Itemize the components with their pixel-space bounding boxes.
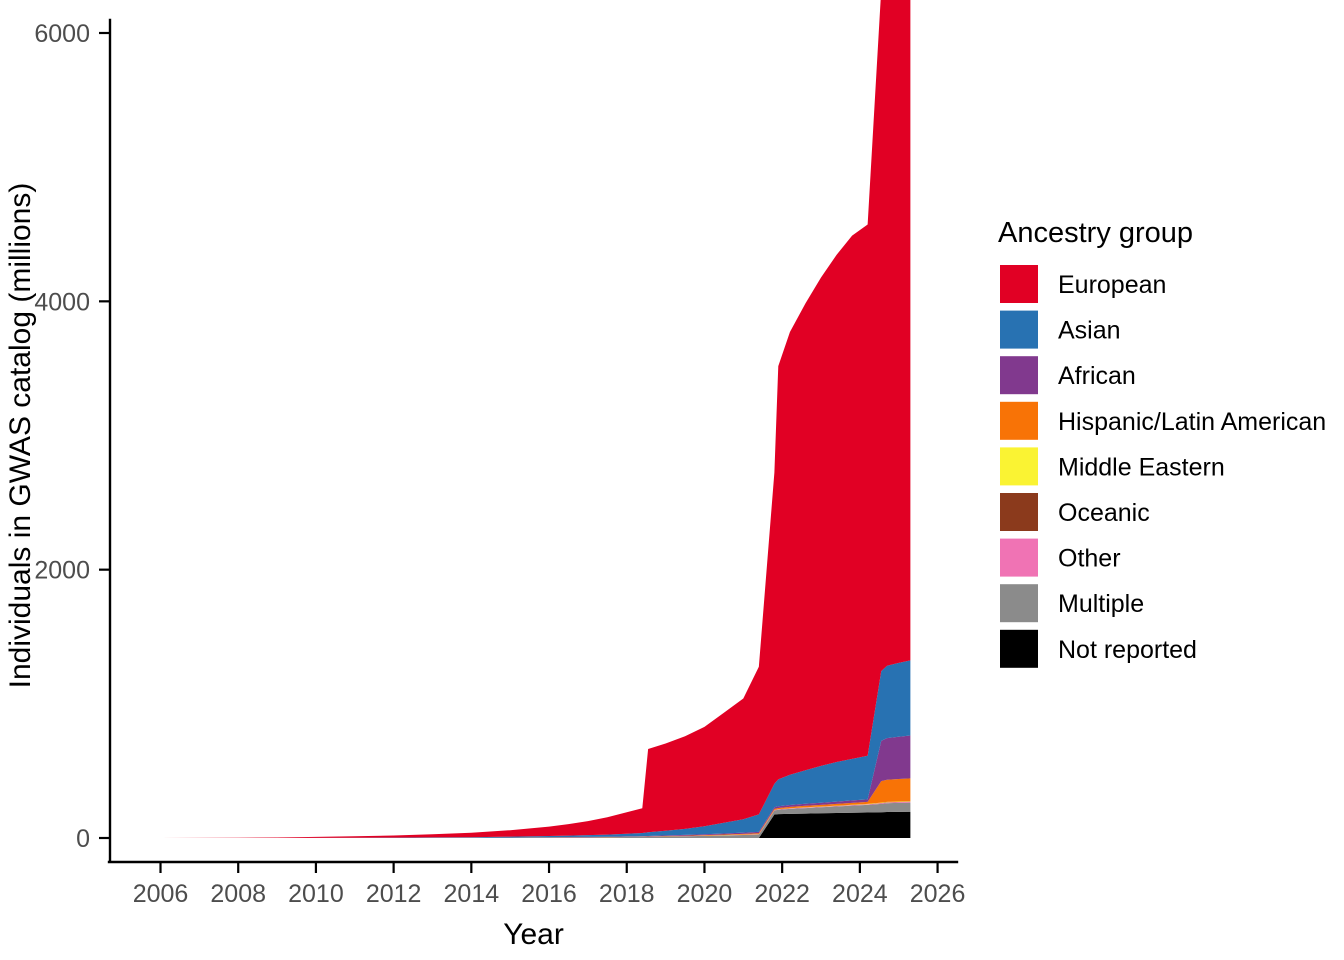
legend-label-other[interactable]: Other <box>1058 545 1121 573</box>
legend-label-middle-eastern[interactable]: Middle Eastern <box>1058 453 1225 481</box>
legend-swatch-african[interactable] <box>1000 356 1038 394</box>
x-tick-label: 2024 <box>832 880 888 908</box>
legend-swatch-multiple[interactable] <box>1000 584 1038 622</box>
legend-swatch-oceanic[interactable] <box>1000 493 1038 531</box>
legend-label-multiple[interactable]: Multiple <box>1058 590 1144 618</box>
legend-swatch-other[interactable] <box>1000 539 1038 577</box>
legend-title: Ancestry group <box>998 217 1193 249</box>
legend-label-african[interactable]: African <box>1058 362 1136 390</box>
x-tick-label: 2018 <box>599 880 655 908</box>
y-axis: 0200040006000 <box>34 20 110 860</box>
x-axis: 2006200820102012201420162018202020222024… <box>109 862 965 908</box>
legend-label-asian[interactable]: Asian <box>1058 317 1121 345</box>
y-tick-label: 2000 <box>34 557 90 585</box>
legend-swatch-middle-eastern[interactable] <box>1000 447 1038 485</box>
x-tick-label: 2022 <box>754 880 810 908</box>
x-tick-label: 2020 <box>677 880 733 908</box>
legend-swatch-european[interactable] <box>1000 265 1038 303</box>
x-tick-label: 2012 <box>366 880 422 908</box>
y-tick-label: 4000 <box>34 288 90 316</box>
x-tick-label: 2016 <box>521 880 577 908</box>
legend-label-not-reported[interactable]: Not reported <box>1058 636 1197 664</box>
y-tick-label: 0 <box>76 825 90 853</box>
x-tick-label: 2008 <box>210 880 266 908</box>
legend-label-oceanic[interactable]: Oceanic <box>1058 499 1150 527</box>
area-series-european <box>122 0 911 838</box>
x-tick-label: 2014 <box>444 880 500 908</box>
chart-figure: 0200040006000 20062008201020122014201620… <box>0 0 1344 960</box>
legend: Ancestry groupEuropeanAsianAfricanHispan… <box>998 217 1326 668</box>
legend-label-european[interactable]: European <box>1058 271 1166 299</box>
x-tick-label: 2026 <box>910 880 966 908</box>
y-axis-title: Individuals in GWAS catalog (millions) <box>4 183 37 689</box>
y-tick-label: 6000 <box>34 20 90 48</box>
legend-swatch-not-reported[interactable] <box>1000 630 1038 668</box>
legend-swatch-asian[interactable] <box>1000 311 1038 349</box>
x-tick-label: 2010 <box>288 880 344 908</box>
plot-areas <box>122 0 911 838</box>
x-axis-title: Year <box>503 918 564 951</box>
legend-swatch-hispanic-latin-american[interactable] <box>1000 402 1038 440</box>
legend-label-hispanic-latin-american[interactable]: Hispanic/Latin American <box>1058 408 1326 436</box>
chart-canvas: 0200040006000 20062008201020122014201620… <box>0 0 1344 960</box>
x-tick-label: 2006 <box>133 880 189 908</box>
